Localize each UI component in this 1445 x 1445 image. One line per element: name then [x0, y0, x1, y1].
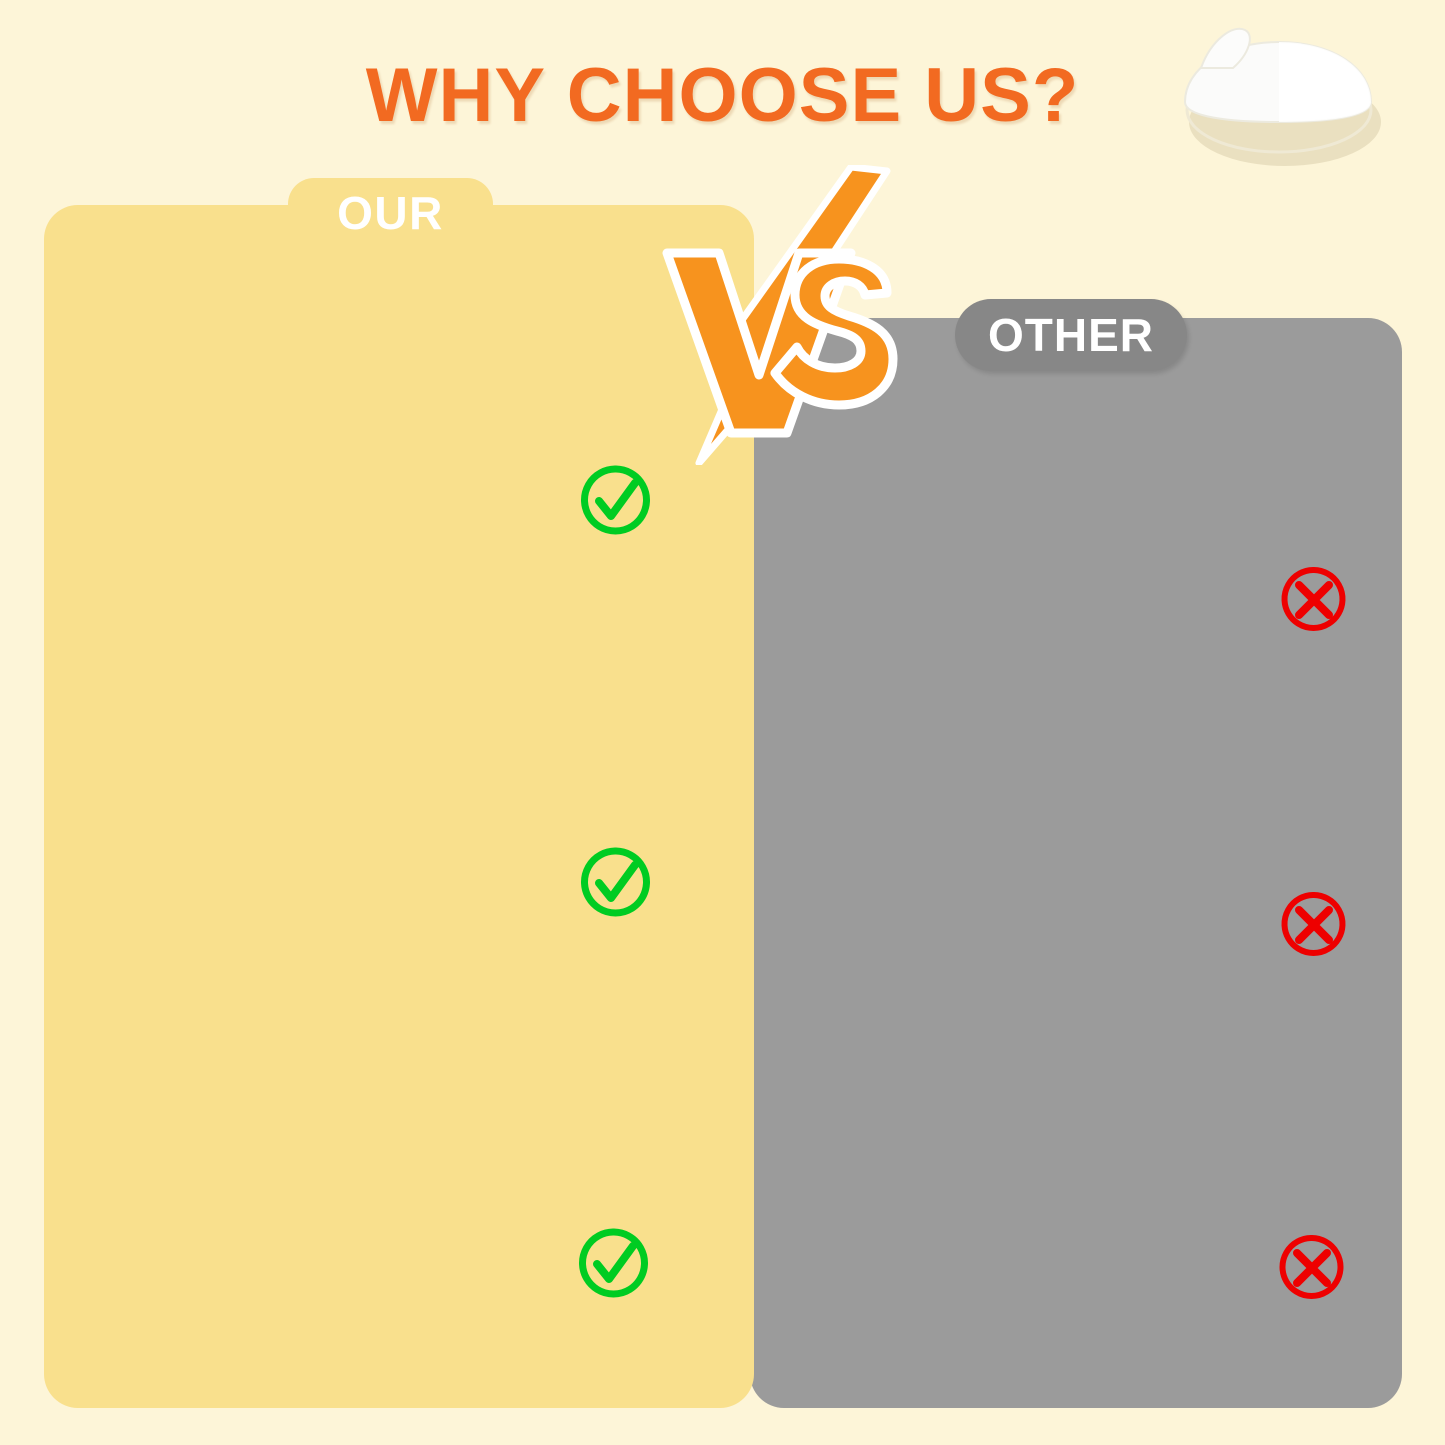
red-cross-icon: [1277, 888, 1351, 967]
infographic-root: WHY CHOOSE US? Easy to Peel: [0, 0, 1445, 1445]
our-tab-label: OUR: [288, 178, 493, 250]
other-tab-text: OTHER: [988, 312, 1154, 358]
page-title: WHY CHOOSE US?: [0, 52, 1445, 139]
green-check-icon: [575, 1224, 653, 1307]
red-cross-icon: [1275, 1231, 1349, 1310]
green-check-icon: [577, 461, 655, 544]
other-tab-label: OTHER: [955, 299, 1187, 371]
red-cross-icon: [1277, 563, 1351, 642]
our-tab-text: OUR: [337, 190, 444, 236]
green-check-icon: [577, 843, 655, 926]
